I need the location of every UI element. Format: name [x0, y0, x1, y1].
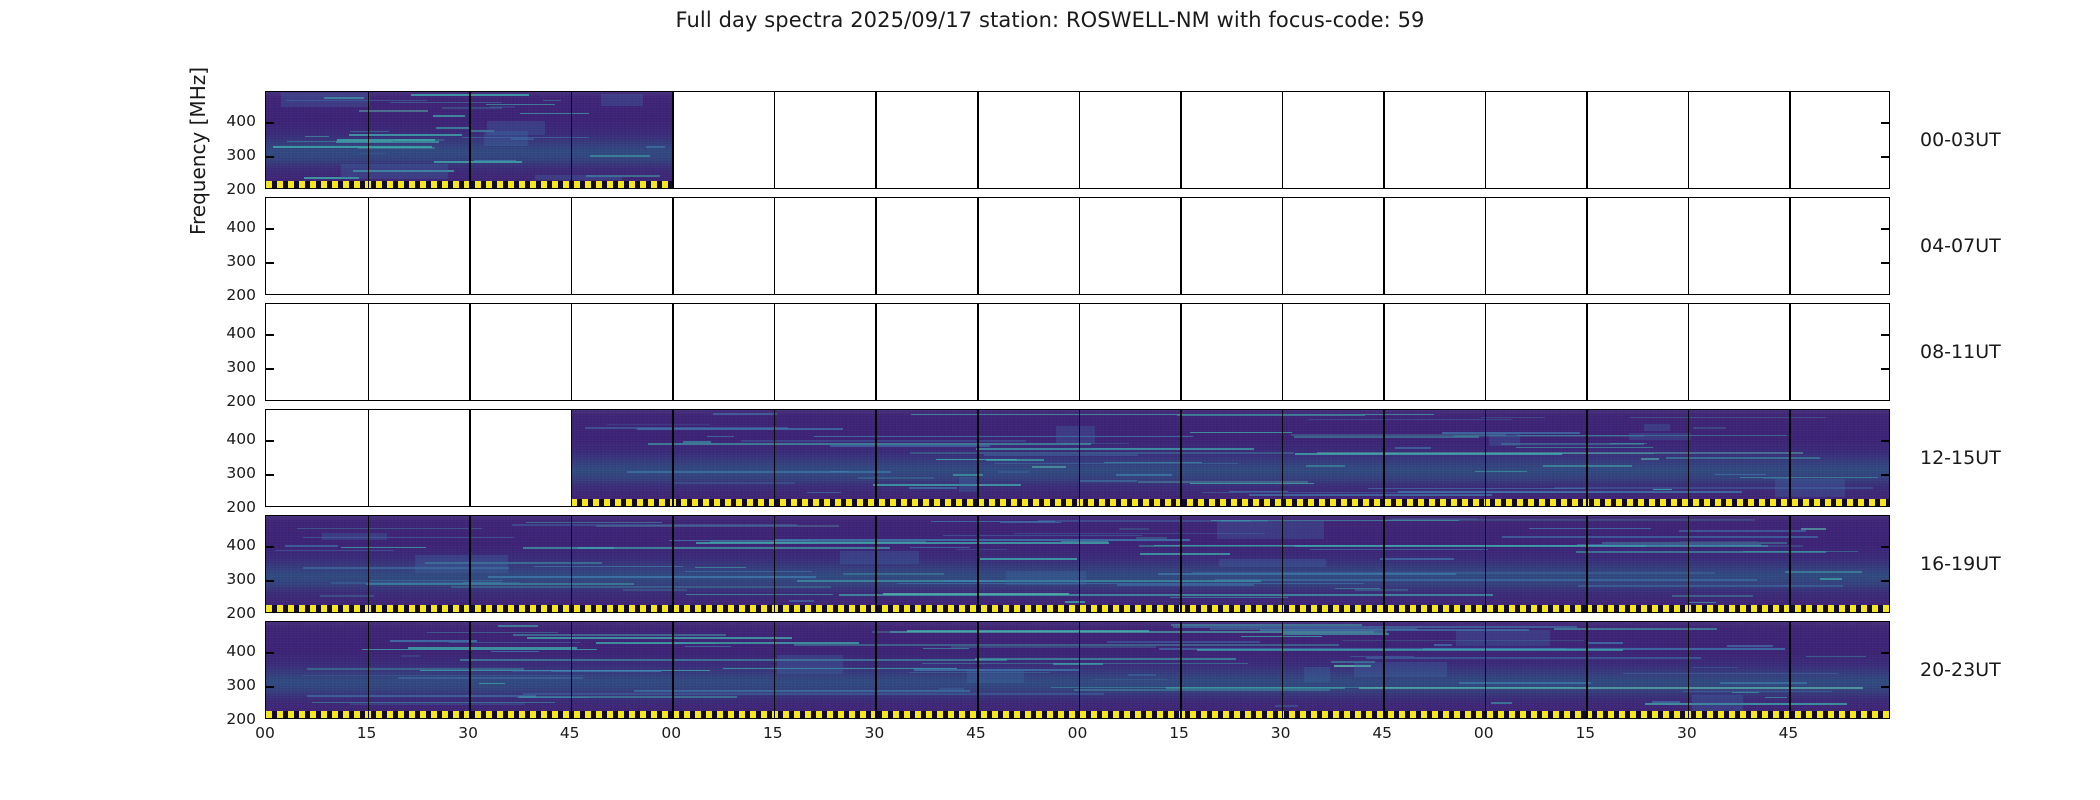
y-axis-tick-label-column: 2003004002003004002003004002003004002003… [196, 91, 256, 719]
spectrogram-streak [1116, 474, 1171, 476]
column-separator [875, 92, 877, 188]
y-tick-label: 400 [226, 642, 256, 660]
y-tick-label: 300 [226, 358, 256, 376]
spectrogram-streak [488, 576, 816, 578]
column-separator [469, 410, 471, 506]
y-tick-mark [266, 652, 274, 654]
y-tick-mark [1881, 686, 1889, 688]
x-tick-label: 00 [661, 724, 681, 742]
spectrogram-blotch [322, 533, 387, 540]
y-tick-mark [266, 474, 274, 476]
column-separator [977, 304, 979, 400]
spectrogram-streak [980, 558, 1077, 560]
column-separator [875, 516, 877, 612]
spectrogram-streak [297, 528, 482, 530]
x-tick-label: 15 [763, 724, 783, 742]
spectrogram-blotch [281, 93, 369, 107]
column-separator [1282, 198, 1284, 294]
spectrogram-streak [1190, 483, 1314, 485]
spectrogram-row-16-19ut[interactable] [265, 515, 1890, 613]
spectrogram-blotch [1304, 667, 1330, 682]
spectrogram-streak [858, 477, 934, 479]
spectrogram-blotch [1775, 479, 1845, 497]
spectrogram-streak [923, 648, 970, 650]
column-separator [1485, 92, 1487, 188]
spectrogram-streak [331, 582, 521, 584]
column-separator [1282, 516, 1284, 612]
spectrogram-blotch [341, 164, 448, 179]
column-separator [571, 516, 573, 612]
spectrogram-streak [922, 663, 1248, 665]
spectrogram-streak [1197, 649, 1624, 651]
spectrogram-blotch [601, 94, 643, 105]
spectrogram-row-00-03ut[interactable] [265, 91, 1890, 189]
spectrogram-streak [1693, 667, 1738, 669]
spectrogram-streak [957, 549, 1007, 551]
column-separator [469, 198, 471, 294]
spectrogram-streak [305, 136, 329, 138]
column-separator [1789, 198, 1791, 294]
column-separator [1485, 304, 1487, 400]
spectrogram-streak [1516, 447, 1653, 449]
column-separator [469, 622, 471, 718]
y-tick-label: 200 [226, 180, 256, 198]
spectrogram-streak [607, 424, 710, 426]
spectrogram-streak [686, 594, 832, 596]
spectrogram-streak [1727, 645, 1773, 647]
spectrogram-streak [1051, 687, 1572, 689]
row-time-label: 16-19UT [1920, 553, 2001, 575]
spectrogram-streak [1732, 692, 1759, 694]
spectrogram-streak [275, 550, 394, 552]
spectrogram-streak [646, 146, 665, 148]
spectrogram-streak [1310, 549, 1487, 551]
row-time-label: 04-07UT [1920, 235, 2001, 257]
spectrogram-streak [909, 487, 958, 489]
spectrogram-streak [814, 436, 1192, 438]
column-separator [1586, 622, 1588, 718]
spectrogram-streak [1306, 465, 1344, 467]
y-tick-mark [266, 262, 274, 264]
spectrogram-streak [527, 637, 792, 639]
column-separator [1079, 410, 1081, 506]
x-tick-label: 15 [357, 724, 377, 742]
spectrogram-streak [460, 659, 1006, 661]
y-tick-label: 300 [226, 464, 256, 482]
y-tick-mark [266, 334, 274, 336]
spectrogram-streak [350, 703, 525, 705]
column-separator [571, 92, 573, 188]
spectrogram-streak [1529, 528, 1651, 530]
spectrogram-streak [1061, 541, 1108, 543]
y-tick-mark [1881, 368, 1889, 370]
column-separator [1079, 622, 1081, 718]
spectrogram-streak [1291, 434, 1507, 436]
spectrogram-blotch [1489, 432, 1520, 445]
column-separator [774, 92, 776, 188]
column-separator [1282, 622, 1284, 718]
x-tick-label: 45 [560, 724, 580, 742]
column-separator [1485, 198, 1487, 294]
column-separator [368, 516, 370, 612]
column-separator [571, 410, 573, 506]
spectrogram-streak [362, 649, 597, 651]
column-separator [469, 92, 471, 188]
spectrogram-streak [1192, 572, 1715, 574]
x-tick-label: 00 [1068, 724, 1088, 742]
spectrogram-streak [307, 695, 536, 697]
y-tick-mark [1881, 652, 1889, 654]
spectrogram-streak [534, 566, 683, 568]
spectrogram-streak [349, 134, 462, 136]
spectrogram-streak [910, 547, 970, 549]
spectrogram-streak [1785, 571, 1861, 573]
y-tick-label: 400 [226, 536, 256, 554]
spectrogram-streak [434, 670, 651, 672]
spectrogram-streak [513, 634, 726, 636]
column-separator [672, 516, 674, 612]
spectrogram-blotch [1644, 424, 1670, 431]
figure-title: Full day spectra 2025/09/17 station: ROS… [0, 8, 2100, 32]
spectrogram-streak [1630, 417, 1826, 419]
spectrogram-streak [897, 583, 1364, 585]
y-tick-mark [1881, 262, 1889, 264]
spectrogram-row-04-07ut[interactable] [265, 197, 1890, 295]
spectrogram-streak [1395, 447, 1430, 449]
spectrogram-streak [398, 677, 584, 679]
column-separator [571, 198, 573, 294]
spectrogram-blotch [1692, 695, 1744, 712]
spectrogram-streak [627, 471, 891, 473]
spectrogram-streak [1294, 436, 1478, 438]
spectrogram-streak [1553, 453, 1654, 455]
column-separator [368, 304, 370, 400]
y-tick-label: 300 [226, 676, 256, 694]
column-separator [1282, 92, 1284, 188]
y-tick-label: 300 [226, 570, 256, 588]
spectrogram-streak [1177, 415, 1365, 417]
spectrogram-streak [1652, 701, 1680, 703]
column-separator [1586, 304, 1588, 400]
spectrogram-streak [713, 413, 777, 415]
y-tick-label: 400 [226, 430, 256, 448]
column-separator [1383, 92, 1385, 188]
spectrogram-streak [1355, 589, 1408, 591]
spectrogram-streak [433, 115, 465, 117]
spectrogram-streak [1806, 656, 1866, 658]
spectrogram-streak [843, 573, 944, 575]
spectrogram-streak [512, 524, 797, 526]
column-separator [875, 410, 877, 506]
spectrogram-streak [696, 542, 1109, 544]
spectrogram-streak [1740, 477, 1879, 479]
spectrogram-streak [1065, 601, 1085, 603]
spectrogram-blotch [1456, 630, 1549, 646]
column-separator [1688, 198, 1690, 294]
spectrogram-streak [520, 113, 589, 115]
spectrogram-streak [984, 454, 1138, 456]
spectrogram-streak [359, 110, 428, 112]
x-tick-label: 00 [1474, 724, 1494, 742]
spectrogram-streak [741, 440, 1026, 442]
spectrogram-streak [285, 545, 338, 547]
spectrogram-streak [359, 153, 386, 155]
spectrogram-blotch [1219, 559, 1327, 567]
spectrogram-streak [939, 688, 964, 690]
spectrogram-streak [1128, 674, 1156, 676]
y-tick-mark [1881, 228, 1889, 230]
column-separator [1383, 198, 1385, 294]
column-separator [774, 304, 776, 400]
spectrogram-row-08-11ut[interactable] [265, 303, 1890, 401]
spectrogram-streak [1672, 595, 1753, 597]
column-separator [1789, 516, 1791, 612]
column-separator [368, 198, 370, 294]
x-tick-label: 45 [1372, 724, 1392, 742]
spectrogram-streak [1249, 494, 1492, 496]
y-tick-mark [266, 156, 274, 158]
spectrogram-blotch [415, 555, 508, 573]
spectrogram-streak [526, 522, 663, 524]
y-tick-mark [1881, 122, 1889, 124]
spectrogram-streak [789, 600, 814, 602]
column-separator [774, 410, 776, 506]
spectrogram-streak [1623, 673, 1838, 675]
spectrogram-streak [1308, 419, 1512, 421]
baseline-marker-200mhz [571, 499, 1890, 506]
y-tick-label: 300 [226, 252, 256, 270]
column-separator [977, 198, 979, 294]
spectrogram-blotch [484, 131, 527, 146]
spectrogram-streak [366, 583, 634, 585]
y-tick-mark [266, 368, 274, 370]
spectrogram-streak [1641, 458, 1659, 460]
spectrogram-streak [390, 102, 501, 104]
spectrogram-streak [1765, 697, 1787, 699]
column-separator [1079, 92, 1081, 188]
spectrogram-blotch [1629, 433, 1691, 440]
spectrogram-streak [490, 106, 515, 108]
column-separator [1282, 304, 1284, 400]
x-axis: 00153045001530450015304500153045 [265, 719, 1890, 759]
spectrogram-streak [523, 547, 891, 549]
x-tick-label: 15 [1169, 724, 1189, 742]
column-separator [1789, 92, 1791, 188]
spectrogram-streak [1368, 488, 1586, 490]
column-separator [1079, 198, 1081, 294]
column-separator [1180, 622, 1182, 718]
spectrogram-streak [517, 697, 588, 699]
spectrogram-streak [474, 160, 516, 162]
column-separator [672, 92, 674, 188]
spectrogram-grid [265, 91, 1890, 719]
spectrogram-streak [1275, 705, 1298, 707]
column-separator [774, 516, 776, 612]
y-tick-mark [1881, 440, 1889, 442]
spectrogram-streak [685, 646, 731, 648]
column-separator [1485, 516, 1487, 612]
spectrogram-streak [1104, 462, 1202, 464]
y-tick-mark [266, 686, 274, 688]
spectrogram-streak [1366, 657, 1701, 659]
column-separator [1180, 198, 1182, 294]
column-separator [368, 622, 370, 718]
spectrogram-blotch [967, 670, 1024, 683]
spectrogram-streak [623, 589, 686, 591]
spectrogram-blotch [535, 175, 621, 181]
row-label-column: 00-03UT04-07UT08-11UT12-15UT16-19UT20-23… [1920, 91, 2090, 719]
spectrogram-streak [401, 655, 420, 657]
y-tick-mark [266, 546, 274, 548]
column-separator [875, 622, 877, 718]
spectrogram-streak [1032, 466, 1065, 468]
spectrogram-streak [1743, 551, 1857, 553]
spectrogram-streak [302, 675, 584, 677]
spectrogram-streak [1107, 641, 1260, 643]
y-tick-mark [266, 440, 274, 442]
spectrogram-streak [1820, 578, 1842, 580]
spectrogram-streak [976, 448, 1254, 450]
spectrogram-streak [839, 594, 1493, 596]
y-tick-mark [1881, 546, 1889, 548]
y-tick-mark [1881, 156, 1889, 158]
spectrogram-streak [830, 445, 989, 447]
spectrogram-streak [975, 658, 1236, 660]
y-tick-label: 400 [226, 112, 256, 130]
spectrogram-streak [1502, 536, 1818, 538]
spectrogram-streak [1000, 522, 1061, 524]
spectrogram-streak [1117, 584, 1254, 586]
column-separator [1688, 410, 1690, 506]
spectrogram-streak [498, 625, 539, 627]
spectrogram-streak [710, 541, 926, 543]
column-separator [1789, 304, 1791, 400]
spectrogram-streak [673, 482, 795, 484]
spectrogram-streak [998, 471, 1029, 473]
x-tick-label: 30 [458, 724, 478, 742]
spectrogram-row-20-23ut[interactable] [265, 621, 1890, 719]
spectrogram-blotch [1006, 571, 1087, 585]
column-separator [1485, 410, 1487, 506]
column-separator [1688, 92, 1690, 188]
column-separator [1789, 622, 1791, 718]
spectrogram-streak [944, 580, 995, 582]
figure-canvas: Full day spectra 2025/09/17 station: ROS… [0, 0, 2100, 800]
x-tick-label: 45 [966, 724, 986, 742]
column-separator [1688, 304, 1690, 400]
spectrogram-streak [1093, 679, 1167, 681]
spectrogram-streak [427, 632, 558, 634]
y-tick-mark [266, 122, 274, 124]
y-tick-label: 400 [226, 324, 256, 342]
column-separator [1586, 198, 1588, 294]
column-separator [368, 92, 370, 188]
spectrogram-streak [1398, 491, 1743, 493]
spectrogram-streak [1459, 682, 1591, 684]
spectrogram-blotch [777, 655, 843, 674]
spectrogram-streak [479, 683, 505, 685]
spectrogram-streak [1554, 628, 1717, 630]
column-separator [875, 304, 877, 400]
y-tick-label: 400 [226, 218, 256, 236]
spectrogram-streak [1380, 558, 1453, 560]
column-separator [469, 516, 471, 612]
spectrogram-data-block [571, 410, 1890, 506]
spectrogram-streak [491, 651, 539, 653]
column-separator [1688, 516, 1690, 612]
column-separator [1586, 92, 1588, 188]
column-separator [1079, 304, 1081, 400]
spectrogram-streak [337, 139, 435, 141]
spectrogram-streak [596, 642, 859, 644]
column-separator [774, 622, 776, 718]
spectrogram-streak [1578, 585, 1843, 587]
y-tick-mark [266, 580, 274, 582]
row-time-label: 00-03UT [1920, 129, 2001, 151]
spectrogram-streak [390, 640, 476, 642]
x-tick-label: 15 [1575, 724, 1595, 742]
column-separator [1180, 92, 1182, 188]
spectrogram-streak [1229, 491, 1288, 493]
spectrogram-streak [695, 567, 746, 569]
y-tick-mark [1881, 580, 1889, 582]
column-separator [469, 304, 471, 400]
spectrogram-streak [1688, 602, 1716, 604]
spectrogram-streak [807, 492, 842, 494]
spectrogram-streak [775, 539, 1190, 541]
spectrogram-streak [1282, 633, 1389, 635]
spectrogram-streak [287, 141, 392, 143]
row-time-label: 20-23UT [1920, 659, 2001, 681]
y-tick-label: 200 [226, 604, 256, 622]
spectrogram-streak [1295, 453, 1562, 455]
spectrogram-blotch [1354, 662, 1447, 677]
column-separator [1688, 622, 1690, 718]
spectrogram-streak [1587, 642, 1623, 644]
column-separator [1586, 516, 1588, 612]
spectrogram-blotch [1217, 521, 1324, 539]
x-tick-label: 30 [1677, 724, 1697, 742]
spectrogram-streak [523, 693, 1104, 695]
column-separator [1180, 410, 1182, 506]
spectrogram-streak [341, 547, 426, 549]
spectrogram-streak [1720, 682, 1807, 684]
spectrogram-streak [830, 471, 849, 473]
y-tick-mark [1881, 334, 1889, 336]
spectrogram-streak [1119, 528, 1148, 530]
spectrogram-streak [1074, 689, 1329, 691]
spectrogram-streak [590, 155, 650, 157]
column-separator [774, 198, 776, 294]
spectrogram-streak [1693, 427, 1726, 429]
column-separator [672, 622, 674, 718]
column-separator [977, 92, 979, 188]
column-separator [571, 622, 573, 718]
spectrogram-streak [873, 484, 1020, 486]
column-separator [1586, 410, 1588, 506]
spectrogram-streak [1170, 597, 1288, 599]
spectrogram-row-12-15ut[interactable] [265, 409, 1890, 507]
y-tick-label: 200 [226, 710, 256, 728]
column-separator [368, 410, 370, 506]
column-separator [672, 304, 674, 400]
spectrogram-streak [1434, 644, 1453, 646]
spectrogram-blotch [1056, 426, 1095, 444]
row-time-label: 12-15UT [1920, 447, 2001, 469]
spectrogram-streak [1491, 702, 1512, 704]
column-separator [1383, 410, 1385, 506]
column-separator [977, 516, 979, 612]
